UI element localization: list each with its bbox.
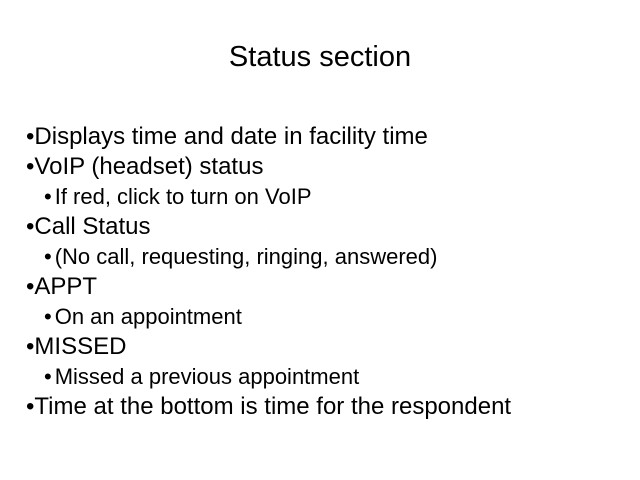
bullet-item-label: Displays time and date in facility time: [34, 123, 428, 150]
bullet-item-label: Time at the bottom is time for the respo…: [34, 393, 511, 420]
bullet-item: •(No call, requesting, ringing, answered…: [26, 242, 626, 272]
bullet-item-label: (No call, requesting, ringing, answered): [55, 244, 438, 269]
bullet-item-label: APPT: [34, 273, 97, 300]
page-title: Status section: [0, 40, 640, 74]
bullet-point-icon: •: [44, 362, 52, 392]
bullet-item: •On an appointment: [26, 302, 626, 332]
bullet-item-label: Call Status: [34, 213, 150, 240]
bullet-point-icon: •: [44, 242, 52, 272]
bullet-item-label: If red, click to turn on VoIP: [55, 184, 312, 209]
bullet-item: •If red, click to turn on VoIP: [26, 182, 626, 212]
bullet-list: •Displays time and date in facility time…: [26, 122, 626, 422]
bullet-item: •VoIP (headset) status: [26, 152, 626, 182]
bullet-item: •Missed a previous appointment: [26, 362, 626, 392]
bullet-item: •MISSED: [26, 332, 626, 362]
bullet-item-label: Missed a previous appointment: [55, 364, 360, 389]
bullet-item: •Call Status: [26, 212, 626, 242]
bullet-item: •Time at the bottom is time for the resp…: [26, 392, 626, 422]
slide-canvas: Status section •Displays time and date i…: [0, 0, 640, 480]
bullet-point-icon: •: [44, 182, 52, 212]
bullet-item: •APPT: [26, 272, 626, 302]
bullet-item-label: VoIP (headset) status: [34, 153, 263, 180]
bullet-item-label: On an appointment: [55, 304, 242, 329]
bullet-item-label: MISSED: [34, 333, 126, 360]
bullet-point-icon: •: [44, 302, 52, 332]
bullet-item: •Displays time and date in facility time: [26, 122, 626, 152]
